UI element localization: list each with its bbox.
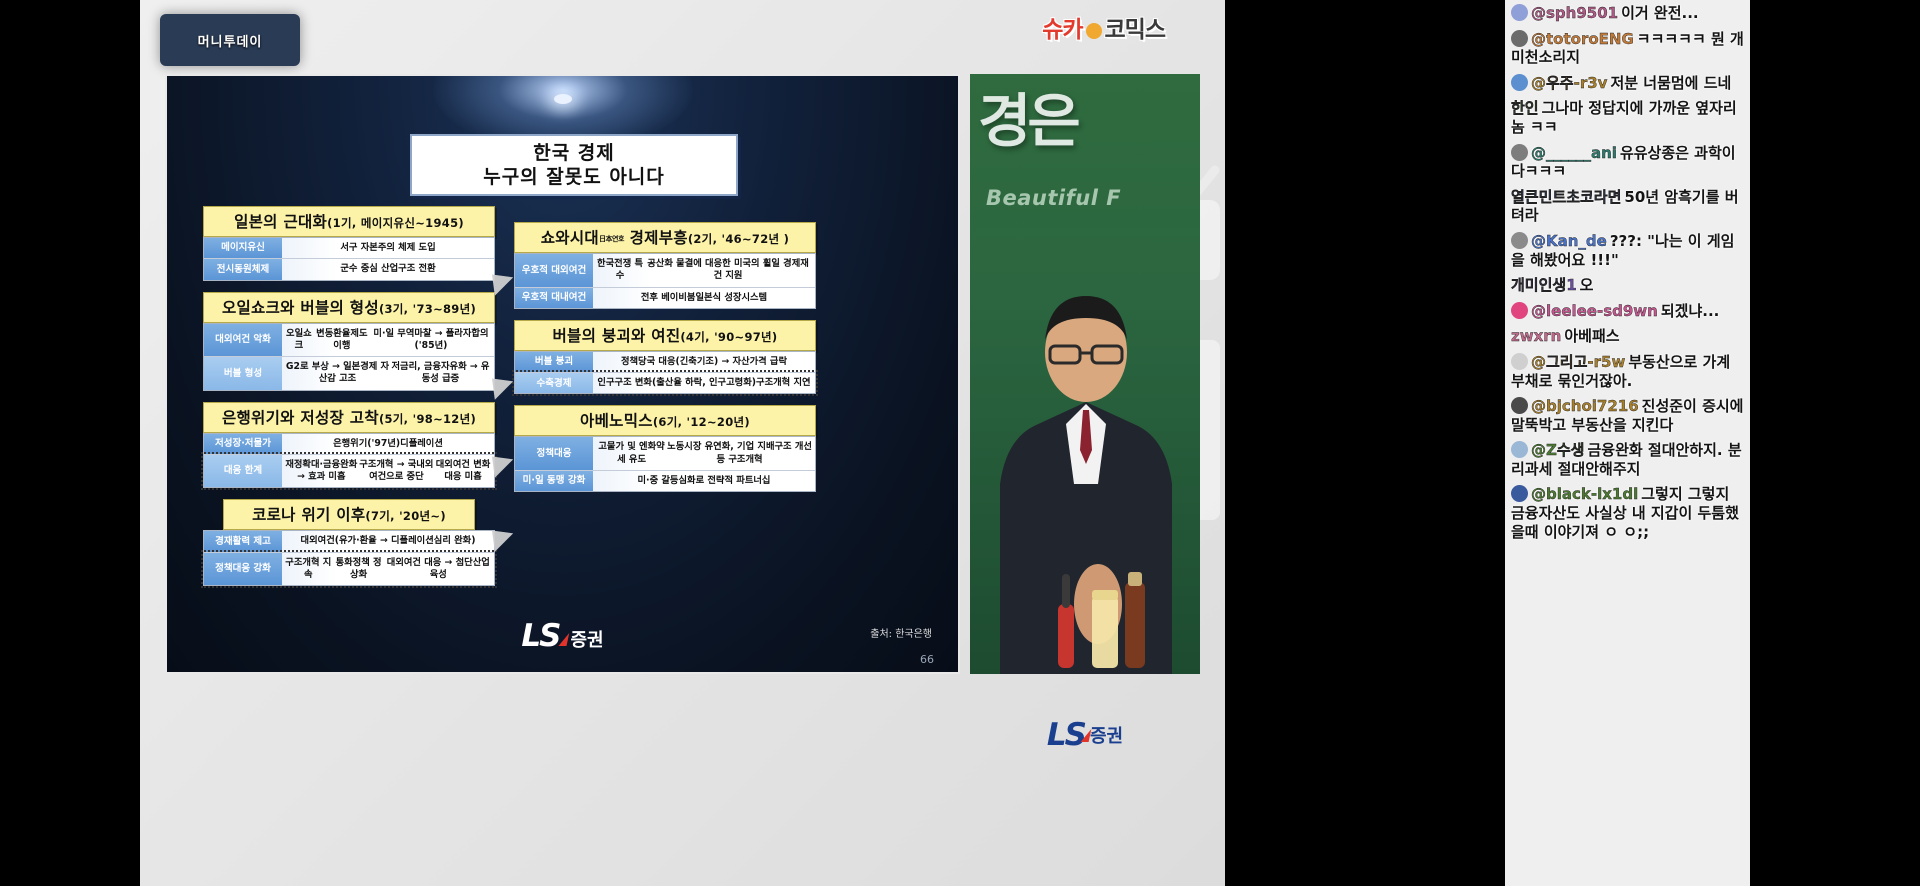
slide-ls-logo: LS 증권 xyxy=(521,618,603,654)
chat-username[interactable]: zwxrn xyxy=(1511,327,1561,345)
slide-block-heading: 코로나 위기 이후(7기, '20년~) xyxy=(223,499,474,530)
slide-block-left-2: 은행위기와 저성장 고착(5기, '98~12년)저성장·저물가은행위기('97… xyxy=(203,402,495,489)
slide-row-label: 수축경제 xyxy=(515,373,593,393)
brand-dot-icon xyxy=(1086,23,1102,39)
slide-table-row: 미·일 동맹 강화미·중 갈등심화로 전략적 파트너십 xyxy=(515,471,815,491)
chat-avatar xyxy=(1511,30,1528,47)
slide-row-label: 정책대응 강화 xyxy=(204,553,282,586)
chat-avatar xyxy=(1511,302,1528,319)
slide-row-label: 미·일 동맹 강화 xyxy=(515,471,593,491)
video-player-area[interactable]: 머니투데이 슈카코믹스 한국 경제 누구의 잘못도 아니다 일본의 근대화(1기… xyxy=(140,0,1225,886)
stream-screen: 머니투데이 슈카코믹스 한국 경제 누구의 잘못도 아니다 일본의 근대화(1기… xyxy=(0,0,1920,886)
chat-message: @Kan_de???: "나는 이 게임을 해봤어요 !!!" xyxy=(1511,232,1744,269)
chat-message: 한인그나마 정답지에 가까운 옆자리놈 ㅋㅋ xyxy=(1511,99,1744,136)
slide-table-row: 버블 붕괴정책당국 대응(긴축기조) → 자산가격 급락 xyxy=(515,352,815,373)
slide-table-row: 저성장·저물가은행위기('97년)디플레이션 xyxy=(204,434,494,455)
host-backdrop-text: 경은 xyxy=(978,94,1077,149)
chat-username[interactable]: @______ani xyxy=(1531,144,1617,162)
slide-block-heading: 일본의 근대화(1기, 메이지유신~1945) xyxy=(203,206,495,237)
chat-text: 아베패스 xyxy=(1564,327,1619,345)
slide-block-right-0: 쇼와시대日本연호 경제부흥(2기, '46~72년 )우호적 대외여건한국전쟁 … xyxy=(514,222,816,309)
chat-text: 그나마 정답지에 가까운 옆자리놈 ㅋㅋ xyxy=(1511,99,1737,136)
chat-message: @Z수생금융완화 절대안하지. 분리과세 절대안해주지 xyxy=(1511,441,1744,478)
chat-username[interactable]: 열큰민트초코라면 xyxy=(1511,188,1621,206)
chat-username[interactable]: 한인 xyxy=(1511,99,1539,117)
slide-table-row: 전시동원체제군수 중심 산업구조 전환 xyxy=(204,259,494,279)
chat-message: zwxrn아베패스 xyxy=(1511,327,1744,346)
chat-username[interactable]: @bjchoi7216 xyxy=(1531,397,1639,415)
slide-block-heading: 은행위기와 저성장 고착(5기, '98~12년) xyxy=(203,402,495,433)
ls-logo-suffix: 증권 xyxy=(570,626,603,652)
slide-row-text: 미·중 갈등심화로 전략적 파트너십 xyxy=(593,471,815,491)
slide-row-label: 메이지유신 xyxy=(204,238,282,258)
chat-message: @leelee-sd9wn되겠냐... xyxy=(1511,302,1744,321)
chat-username[interactable]: @black-lx1dl xyxy=(1531,485,1638,503)
slide-block-table: 경재활력 제고대외여건(유가·환율 → 디플레이션심리 완화)정책대응 강화구조… xyxy=(203,530,495,586)
slide-right-column: 쇼와시대日本연호 경제부흥(2기, '46~72년 )우호적 대외여건한국전쟁 … xyxy=(514,222,816,503)
slide-row-text: 구조개혁 지속통화정책 정상화대외여건 대응 → 첨단산업 육성 xyxy=(282,553,494,586)
slide-row-text: 은행위기('97년)디플레이션 xyxy=(282,434,494,454)
slide-row-label: 버블 형성 xyxy=(204,357,282,390)
chat-message: 개미인생1오 xyxy=(1511,276,1744,295)
slide-row-text: G2로 부상 → 일본경제 자산감 고조저금리, 금융자유화 → 유동성 급증 xyxy=(282,357,494,390)
live-chat-panel[interactable]: @sph9501이거 완전...@totoroENGㅋㅋㅋㅋㅋ 뭔 개미천소리지… xyxy=(1505,0,1750,886)
slide-block-table: 대외여건 악화오일쇼크변동환율제도 이행미·일 무역마찰 → 플라자합의('85… xyxy=(203,323,495,391)
slide-row-label: 대외여건 악화 xyxy=(204,324,282,357)
chat-message: 열큰민트초코라면50년 암흑기를 버텨라 xyxy=(1511,188,1744,225)
chat-avatar xyxy=(1511,397,1528,414)
slide-block-right-1: 버블의 붕괴와 여진(4기, '90~97년)버블 붕괴정책당국 대응(긴축기조… xyxy=(514,320,816,395)
slide-spotlight-core xyxy=(554,94,572,104)
slide-title-line1: 한국 경제 xyxy=(533,141,615,165)
slide-row-text: 정책당국 대응(긴축기조) → 자산가격 급락 xyxy=(593,352,815,372)
host-camera-panel: 경은 Beautiful F xyxy=(970,74,1200,674)
slide-left-column: 일본의 근대화(1기, 메이지유신~1945)메이지유신서구 자본주의 체제 도… xyxy=(203,206,495,597)
slide-block-heading: 아베노믹스(6기, '12~20년) xyxy=(514,405,816,436)
slide-row-label: 전시동원체제 xyxy=(204,259,282,279)
chat-text: 오 xyxy=(1580,276,1594,294)
slide-table-row: 대외여건 악화오일쇼크변동환율제도 이행미·일 무역마찰 → 플라자합의('85… xyxy=(204,324,494,358)
chat-username[interactable]: @그리고-r5w xyxy=(1531,353,1625,371)
chat-username[interactable]: @totoroENG xyxy=(1531,30,1634,48)
slide-title-box: 한국 경제 누구의 잘못도 아니다 xyxy=(410,134,738,196)
program-brand-logo: 슈카코믹스 xyxy=(1042,10,1165,44)
slide-title-line2: 누구의 잘못도 아니다 xyxy=(483,165,665,189)
chat-username[interactable]: @Kan_de xyxy=(1531,232,1607,250)
chat-avatar xyxy=(1511,74,1528,91)
slide-table-row: 대응 한계재정확대·금융완화 → 효과 미흡구조개혁 → 국내외 여건으로 중단… xyxy=(204,455,494,488)
right-black-bar xyxy=(1750,0,1920,886)
slide-row-text: 전후 베이비붐일본식 성장시스템 xyxy=(593,288,815,308)
ls-logo-tick-icon xyxy=(558,633,569,646)
ls-logo-text: LS xyxy=(521,618,559,654)
chat-avatar xyxy=(1511,144,1528,161)
slide-row-label: 경재활력 제고 xyxy=(204,531,282,551)
slide-table-row: 버블 형성G2로 부상 → 일본경제 자산감 고조저금리, 금융자유화 → 유동… xyxy=(204,357,494,390)
chat-text: 이거 완전... xyxy=(1621,4,1699,22)
slide-table-row: 메이지유신서구 자본주의 체제 도입 xyxy=(204,238,494,259)
slide-row-label: 저성장·저물가 xyxy=(204,434,282,454)
slide-block-left-3: 코로나 위기 이후(7기, '20년~)경재활력 제고대외여건(유가·환율 → … xyxy=(203,499,495,586)
chat-text: 되겠냐... xyxy=(1661,302,1720,320)
slide-block-table: 버블 붕괴정책당국 대응(긴축기조) → 자산가격 급락수축경제인구구조 변화(… xyxy=(514,351,816,395)
chat-avatar xyxy=(1511,4,1528,21)
lower-ls-logo-suffix: 증권 xyxy=(1090,722,1123,748)
chat-message: @black-lx1dl그렇지 그렇지 금융자산도 사실상 내 지갑이 두툼했을… xyxy=(1511,485,1744,541)
chat-message: @sph9501이거 완전... xyxy=(1511,4,1744,23)
slide-block-table: 저성장·저물가은행위기('97년)디플레이션대응 한계재정확대·금융완화 → 효… xyxy=(203,433,495,489)
slide-table-row: 정책대응고물가 및 엔화약세 유도노동시장 유연화, 기업 지배구조 개선 등 … xyxy=(515,437,815,471)
slide-block-left-0: 일본의 근대화(1기, 메이지유신~1945)메이지유신서구 자본주의 체제 도… xyxy=(203,206,495,281)
chat-text: 저분 너뭄멈에 드네 xyxy=(1610,74,1731,92)
slide-table-row: 정책대응 강화구조개혁 지속통화정책 정상화대외여건 대응 → 첨단산업 육성 xyxy=(204,553,494,586)
left-black-bar xyxy=(0,0,140,886)
chat-message: @totoroENGㅋㅋㅋㅋㅋ 뭔 개미천소리지 xyxy=(1511,30,1744,67)
show-logo-text: 머니투데이 xyxy=(198,31,263,50)
slide-row-text: 군수 중심 산업구조 전환 xyxy=(282,259,494,279)
presentation-slide: 한국 경제 누구의 잘못도 아니다 일본의 근대화(1기, 메이지유신~1945… xyxy=(165,74,960,674)
brand-left-text: 슈카 xyxy=(1042,17,1082,43)
slide-block-heading: 버블의 붕괴와 여진(4기, '90~97년) xyxy=(514,320,816,351)
chat-username[interactable]: 개미인생1 xyxy=(1511,276,1577,294)
lower-third-ls-logo: LS 증권 xyxy=(970,690,1200,780)
slide-block-heading: 쇼와시대日本연호 경제부흥(2기, '46~72년 ) xyxy=(514,222,816,253)
slide-row-label: 우호적 대내여건 xyxy=(515,288,593,308)
chat-avatar xyxy=(1511,353,1528,370)
slide-block-table: 정책대응고물가 및 엔화약세 유도노동시장 유연화, 기업 지배구조 개선 등 … xyxy=(514,436,816,492)
desk-props xyxy=(970,554,1200,674)
slide-row-label: 대응 한계 xyxy=(204,455,282,488)
slide-row-label: 버블 붕괴 xyxy=(515,352,593,372)
slide-row-text: 인구구조 변화(출산율 하락, 인구고령화)구조개혁 지연 xyxy=(593,373,815,393)
lower-ls-logo-text: LS xyxy=(1047,717,1085,753)
slide-row-text: 한국전쟁 특수공산화 물결에 대응한 미국의 휠일 경제재건 지원 xyxy=(593,254,815,287)
slide-table-row: 경재활력 제고대외여건(유가·환율 → 디플레이션심리 완화) xyxy=(204,531,494,552)
slide-row-text: 재정확대·금융완화 → 효과 미흡구조개혁 → 국내외 여건으로 중단대외여건 … xyxy=(282,455,494,488)
host-backdrop-subtext: Beautiful F xyxy=(986,186,1121,210)
chat-avatar xyxy=(1511,485,1528,502)
slide-row-text: 고물가 및 엔화약세 유도노동시장 유연화, 기업 지배구조 개선 등 구조개혁 xyxy=(593,437,815,470)
slide-table-row: 수축경제인구구조 변화(출산율 하락, 인구고령화)구조개혁 지연 xyxy=(515,373,815,393)
chat-message: @그리고-r5w부동산으로 가계 부채로 묶인거잖아. xyxy=(1511,353,1744,390)
slide-block-table: 우호적 대외여건한국전쟁 특수공산화 물결에 대응한 미국의 휠일 경제재건 지… xyxy=(514,253,816,309)
slide-row-text: 서구 자본주의 체제 도입 xyxy=(282,238,494,258)
slide-block-heading: 오일쇼크와 버블의 형성(3기, '73~89년) xyxy=(203,292,495,323)
slide-row-text: 대외여건(유가·환율 → 디플레이션심리 완화) xyxy=(282,531,494,551)
chat-username[interactable]: @leelee-sd9wn xyxy=(1531,302,1658,320)
chat-message: @우주-r3v저분 너뭄멈에 드네 xyxy=(1511,74,1744,93)
slide-page-number: 66 xyxy=(920,653,934,666)
slide-table-row: 우호적 대외여건한국전쟁 특수공산화 물결에 대응한 미국의 휠일 경제재건 지… xyxy=(515,254,815,288)
chat-message: @bjchoi7216진성준이 증시에 말뚝박고 부동산을 지킨다 xyxy=(1511,397,1744,434)
brand-right-text: 코믹스 xyxy=(1105,17,1165,43)
chat-username[interactable]: @Z수생 xyxy=(1531,441,1584,459)
slide-block-left-1: 오일쇼크와 버블의 형성(3기, '73~89년)대외여건 악화오일쇼크변동환율… xyxy=(203,292,495,391)
slide-table-row: 우호적 대내여건전후 베이비붐일본식 성장시스템 xyxy=(515,288,815,308)
chat-username[interactable]: @우주-r3v xyxy=(1531,74,1607,92)
chat-username[interactable]: @sph9501 xyxy=(1531,4,1618,22)
chat-avatar xyxy=(1511,441,1528,458)
slide-row-label: 정책대응 xyxy=(515,437,593,470)
slide-source-note: 출처: 한국은행 xyxy=(870,625,932,640)
slide-row-label: 우호적 대외여건 xyxy=(515,254,593,287)
slide-block-right-2: 아베노믹스(6기, '12~20년)정책대응고물가 및 엔화약세 유도노동시장 … xyxy=(514,405,816,492)
chat-avatar xyxy=(1511,232,1528,249)
slide-block-table: 메이지유신서구 자본주의 체제 도입전시동원체제군수 중심 산업구조 전환 xyxy=(203,237,495,281)
show-logo: 머니투데이 xyxy=(160,14,300,66)
chat-message: @______ani유유상종은 과학이다ㅋㅋㅋ xyxy=(1511,144,1744,181)
slide-row-text: 오일쇼크변동환율제도 이행미·일 무역마찰 → 플라자합의('85년) xyxy=(282,324,494,357)
